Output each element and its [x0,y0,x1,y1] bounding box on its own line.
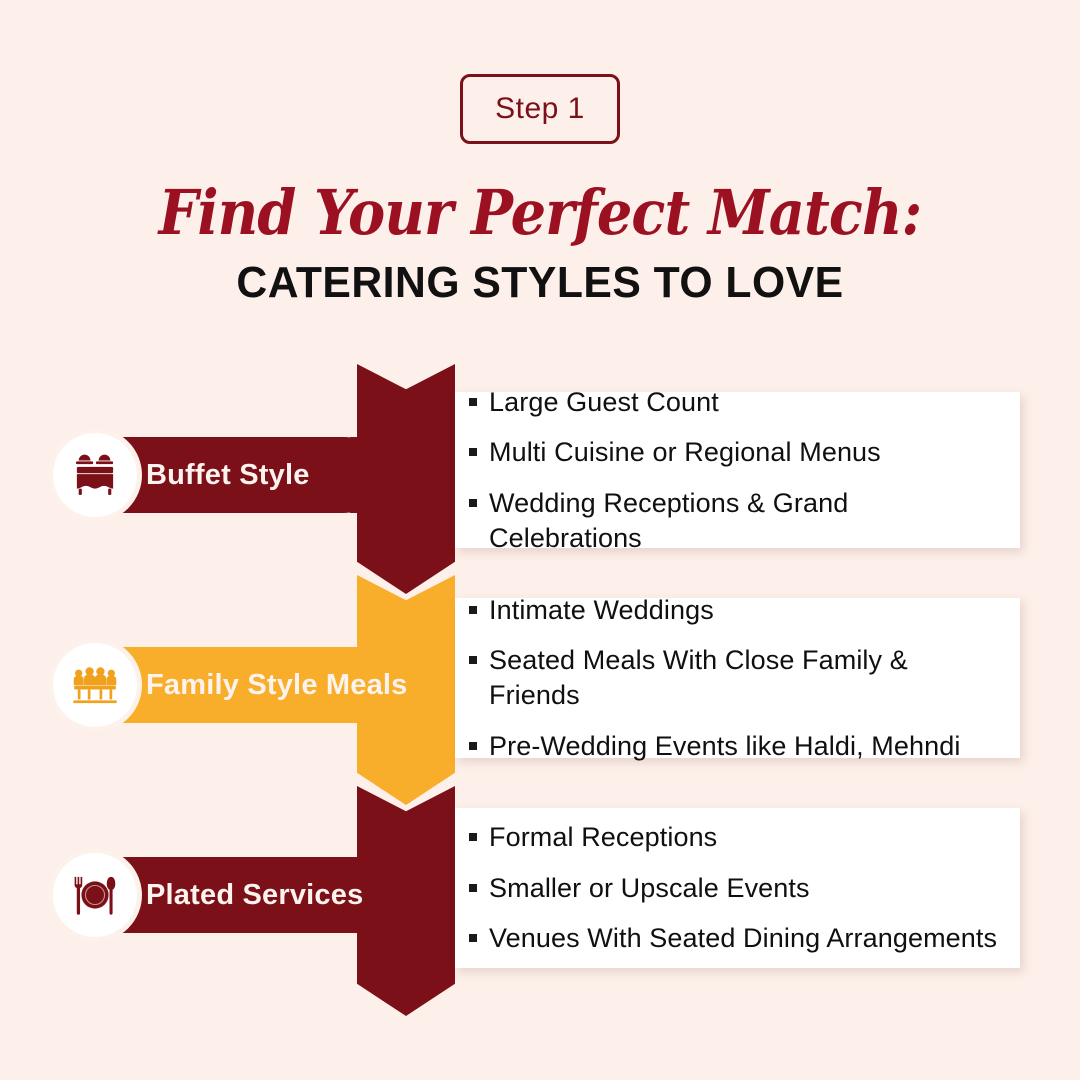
list-item: Formal Receptions [469,820,1000,855]
list-item: Large Guest Count [469,385,1000,420]
style-card-plated: Formal Receptions Smaller or Upscale Eve… [455,808,1020,968]
bullet-square-icon [469,884,477,892]
bullet-square-icon [469,499,477,507]
list-item: Venues With Seated Dining Arrangements [469,921,1000,956]
bullet-square-icon [469,934,477,942]
catering-styles-flow: Buffet Style Large Guest Count Multi Cui… [0,0,1080,1080]
style-card-buffet: Large Guest Count Multi Cuisine or Regio… [455,392,1020,548]
bullet-text: Intimate Weddings [489,593,714,628]
list-item: Pre-Wedding Events like Haldi, Mehndi [469,729,1000,764]
bullet-text: Large Guest Count [489,385,719,420]
bullet-square-icon [469,833,477,841]
bullet-text: Multi Cuisine or Regional Menus [489,435,881,470]
plate-fork-spoon-icon [48,848,142,942]
bullet-text: Formal Receptions [489,820,717,855]
style-pill-buffet[interactable]: Buffet Style [62,437,382,513]
style-pill-family[interactable]: Family Style Meals [62,647,432,723]
list-item: Multi Cuisine or Regional Menus [469,435,1000,470]
buffet-table-icon [48,428,142,522]
bullet-square-icon [469,742,477,750]
bullet-text: Seated Meals With Close Family & Friends [489,643,1000,712]
style-label-family: Family Style Meals [146,669,408,702]
list-item: Intimate Weddings [469,593,1000,628]
bullet-square-icon [469,398,477,406]
family-at-table-icon [48,638,142,732]
style-card-family: Intimate Weddings Seated Meals With Clos… [455,598,1020,758]
style-label-buffet: Buffet Style [146,459,310,492]
list-item: Seated Meals With Close Family & Friends [469,643,1000,712]
bullet-square-icon [469,448,477,456]
bullet-text: Pre-Wedding Events like Haldi, Mehndi [489,729,960,764]
bullet-text: Smaller or Upscale Events [489,871,810,906]
style-pill-plated[interactable]: Plated Services [62,857,412,933]
bullet-square-icon [469,606,477,614]
bullet-text: Wedding Receptions & Grand Celebrations [489,486,1000,555]
list-item: Wedding Receptions & Grand Celebrations [469,486,1000,555]
list-item: Smaller or Upscale Events [469,871,1000,906]
bullet-text: Venues With Seated Dining Arrangements [489,921,997,956]
style-label-plated: Plated Services [146,879,363,912]
bullet-square-icon [469,656,477,664]
